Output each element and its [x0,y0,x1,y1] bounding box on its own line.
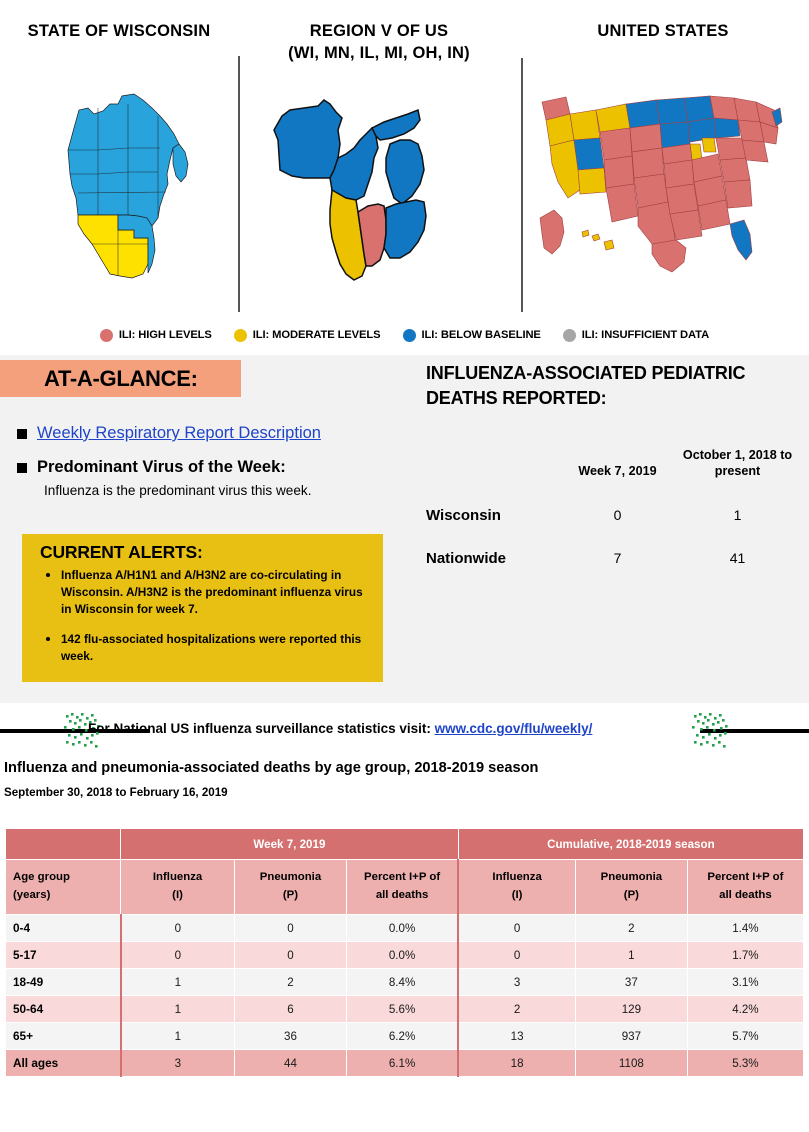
legend-item-insufficient: ILI: INSUFFICIENT DATA [563,329,709,342]
cell-cumulative-pneumonia: 1 [575,942,687,969]
cell-cumulative-influenza: 18 [458,1050,575,1077]
cell-week-percent: 0.0% [346,915,458,942]
table-group-header-row: Week 7, 2019 Cumulative, 2018-2019 seaso… [6,829,804,860]
group-header-week: Week 7, 2019 [121,829,459,860]
cdc-weekly-link[interactable]: www.cdc.gov/flu/weekly/ [435,721,593,736]
map-divider-2 [521,58,523,312]
at-a-glance-title: AT-A-GLANCE: [44,366,198,392]
group-header-cumulative: Cumulative, 2018-2019 season [458,829,803,860]
table-row: 5-17 0 0 0.0% 0 1 1.7% [6,942,804,969]
map-title-united-states: UNITED STATES [524,20,802,42]
cell-week-percent: 6.2% [346,1023,458,1050]
column-header-cumulative-influenza: Influenza (I) [458,860,575,915]
legend-label-insufficient: ILI: INSUFFICIENT DATA [582,329,709,341]
cell-week-pneumonia: 6 [235,996,347,1023]
maps-section: STATE OF WISCONSIN REGION V OF US (WI, M… [0,0,809,355]
cell-cumulative-pneumonia: 129 [575,996,687,1023]
cell-cumulative-percent: 3.1% [687,969,803,996]
weekly-report-bullet-row: Weekly Respiratory Report Description [17,423,407,444]
cell-cumulative-pneumonia: 1108 [575,1050,687,1077]
cell-cumulative-influenza: 2 [458,996,575,1023]
cell-cumulative-percent: 1.7% [687,942,803,969]
decorative-arrow-icon-right [688,711,730,751]
column-header-line: all deaths [719,889,772,901]
pediatric-deaths-table: Week 7, 2019 October 1, 2018 to present … [420,447,800,580]
cell-cumulative-percent: 5.3% [687,1050,803,1077]
ili-legend: ILI: HIGH LEVELS ILI: MODERATE LEVELS IL… [0,322,809,348]
ped-row-week-value: 7 [560,537,675,580]
alert-item-text: Influenza A/H1N1 and A/H3N2 are co-circu… [61,567,366,618]
column-header-line: Pneumonia [601,871,662,883]
alert-list-item: 142 flu-associated hospitalizations were… [46,631,366,665]
cell-cumulative-influenza: 3 [458,969,575,996]
column-header-age-group: Age group (years) [6,860,121,915]
column-header-week-influenza: Influenza (I) [121,860,235,915]
united-states-map [534,82,784,287]
column-header-week-percent: Percent I+P of all deaths [346,860,458,915]
predominant-virus-heading: Predominant Virus of the Week: [37,457,286,478]
cell-week-pneumonia: 36 [235,1023,347,1050]
dot-bullet-icon [46,637,50,641]
ped-row-cumulative-value: 41 [675,537,800,580]
table-row: Nationwide 7 41 [420,537,800,580]
cell-age-group: 65+ [6,1023,121,1050]
legend-item-high: ILI: HIGH LEVELS [100,329,212,342]
ped-col-blank [420,447,560,494]
cell-week-percent: 0.0% [346,942,458,969]
circle-icon-moderate [234,329,247,342]
cell-cumulative-percent: 5.7% [687,1023,803,1050]
map-title-region-sublabel: (WI, MN, IL, MI, OH, IN) [288,44,470,62]
deaths-by-age-table: Week 7, 2019 Cumulative, 2018-2019 seaso… [5,828,804,1077]
column-header-line: (I) [512,889,523,901]
cell-week-percent: 8.4% [346,969,458,996]
map-divider-1 [238,56,240,312]
column-header-line: Influenza [492,871,541,883]
region-v-map [268,78,483,293]
column-header-line: (P) [624,889,639,901]
column-header-line: (I) [172,889,183,901]
cell-age-group: 50-64 [6,996,121,1023]
map-title-united-states-label: UNITED STATES [597,22,728,40]
column-header-line: Percent I+P of [364,871,440,883]
cdc-link-band: For National US influenza surveillance s… [0,703,809,759]
current-alerts-box: CURRENT ALERTS: Influenza A/H1N1 and A/H… [22,534,383,682]
dot-bullet-icon [46,573,50,577]
group-header-blank [6,829,121,860]
current-alerts-title: CURRENT ALERTS: [40,542,203,563]
ped-row-cumulative-value: 1 [675,494,800,537]
table-row: 65+ 1 36 6.2% 13 937 5.7% [6,1023,804,1050]
cell-week-percent: 5.6% [346,996,458,1023]
ped-col-week: Week 7, 2019 [560,447,675,494]
column-header-line: Percent I+P of [707,871,783,883]
circle-icon-below-baseline [403,329,416,342]
column-header-line: (years) [13,889,50,901]
map-title-region: REGION V OF US (WI, MN, IL, MI, OH, IN) [240,20,518,65]
square-bullet-icon [17,429,27,439]
cell-week-influenza: 3 [121,1050,235,1077]
cell-week-influenza: 0 [121,915,235,942]
table-row: 18-49 1 2 8.4% 3 37 3.1% [6,969,804,996]
column-header-line: (P) [283,889,298,901]
column-header-line: Age group [13,871,70,883]
cell-week-influenza: 0 [121,942,235,969]
cell-week-pneumonia: 2 [235,969,347,996]
cell-age-group: 18-49 [6,969,121,996]
circle-icon-high [100,329,113,342]
cell-cumulative-influenza: 0 [458,915,575,942]
cell-age-group: 0-4 [6,915,121,942]
table-row-total: All ages 3 44 6.1% 18 1108 5.3% [6,1050,804,1077]
cell-cumulative-pneumonia: 2 [575,915,687,942]
cell-week-influenza: 1 [121,996,235,1023]
cell-week-pneumonia: 44 [235,1050,347,1077]
cell-cumulative-percent: 4.2% [687,996,803,1023]
table-row: 0-4 0 0 0.0% 0 2 1.4% [6,915,804,942]
column-header-line: all deaths [376,889,429,901]
map-title-wisconsin-label: STATE OF WISCONSIN [28,22,211,40]
cell-week-pneumonia: 0 [235,942,347,969]
ped-row-label: Wisconsin [420,494,560,537]
table-header-row: Week 7, 2019 October 1, 2018 to present [420,447,800,494]
legend-label-high: ILI: HIGH LEVELS [119,329,212,341]
predominant-virus-bullet-row: Predominant Virus of the Week: [17,457,407,478]
table-column-header-row: Age group (years) Influenza (I) Pneumoni… [6,860,804,915]
alert-list-item: Influenza A/H1N1 and A/H3N2 are co-circu… [46,567,366,618]
cdc-band-prefix: For National US influenza surveillance s… [88,721,435,736]
column-header-line: Pneumonia [260,871,321,883]
at-a-glance-panel: AT-A-GLANCE: Weekly Respiratory Report D… [0,355,809,703]
cdc-band-text: For National US influenza surveillance s… [88,721,592,736]
ped-row-week-value: 0 [560,494,675,537]
ped-row-label: Nationwide [420,537,560,580]
legend-item-below-baseline: ILI: BELOW BASELINE [403,329,541,342]
cell-cumulative-pneumonia: 37 [575,969,687,996]
table-row: Wisconsin 0 1 [420,494,800,537]
circle-icon-insufficient [563,329,576,342]
cell-cumulative-influenza: 0 [458,942,575,969]
cell-cumulative-percent: 1.4% [687,915,803,942]
deaths-table-heading: Influenza and pneumonia-associated death… [4,760,538,776]
legend-item-moderate: ILI: MODERATE LEVELS [234,329,381,342]
alert-item-text: 142 flu-associated hospitalizations were… [61,631,366,665]
wisconsin-map [48,78,208,293]
weekly-respiratory-report-link[interactable]: Weekly Respiratory Report Description [37,423,321,444]
cell-week-percent: 6.1% [346,1050,458,1077]
column-header-cumulative-percent: Percent I+P of all deaths [687,860,803,915]
cell-week-influenza: 1 [121,969,235,996]
legend-label-below-baseline: ILI: BELOW BASELINE [422,329,541,341]
deaths-table-subheading: September 30, 2018 to February 16, 2019 [4,786,228,799]
map-title-wisconsin: STATE OF WISCONSIN [8,20,230,42]
cell-age-group: All ages [6,1050,121,1077]
column-header-cumulative-pneumonia: Pneumonia (P) [575,860,687,915]
cell-age-group: 5-17 [6,942,121,969]
square-bullet-icon [17,463,27,473]
map-title-region-label: REGION V OF US [310,22,448,40]
column-header-line: Influenza [153,871,202,883]
ped-col-cumulative: October 1, 2018 to present [675,447,800,494]
predominant-virus-text: Influenza is the predominant virus this … [44,482,404,500]
column-header-week-pneumonia: Pneumonia (P) [235,860,347,915]
pediatric-deaths-title: INFLUENZA-ASSOCIATED PEDIATRIC DEATHS RE… [426,361,796,411]
cell-cumulative-influenza: 13 [458,1023,575,1050]
table-row: 50-64 1 6 5.6% 2 129 4.2% [6,996,804,1023]
cell-week-pneumonia: 0 [235,915,347,942]
cell-week-influenza: 1 [121,1023,235,1050]
legend-label-moderate: ILI: MODERATE LEVELS [253,329,381,341]
cell-cumulative-pneumonia: 937 [575,1023,687,1050]
